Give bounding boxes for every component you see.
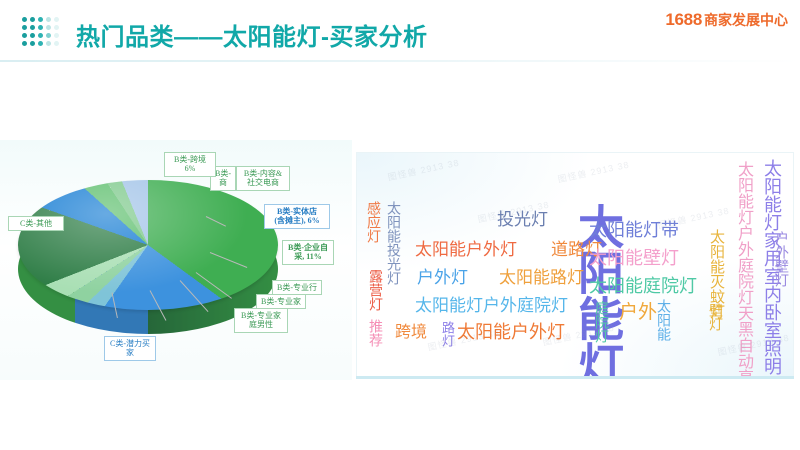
word-cloud-term: 投光灯	[497, 211, 548, 228]
pie-chart-panel: C类-其他 C类-潜力买 家 B类-专业家 庭男性 B类-专业家 B类-专业行 …	[0, 140, 352, 380]
word-cloud-term: 太阳能灯户外庭院灯天黑自动亮	[735, 161, 751, 378]
word-cloud-term: 户外壁灯	[775, 231, 789, 287]
word-cloud-term: 露营灯	[369, 269, 383, 311]
pie-label-b-content: B类-内容& 社交电商	[236, 166, 290, 191]
pie-label-b-store: B类-实体店 (含摊主), 6%	[264, 204, 330, 229]
word-cloud-bottom-edge	[356, 376, 794, 379]
watermark: 图怪兽 2913 38	[556, 158, 630, 186]
word-cloud-term: 感应灯	[367, 201, 381, 243]
pie-label-c-other: C类-其他	[8, 216, 64, 231]
pie-label-b-crossborder: B类-跨境 6%	[164, 152, 216, 177]
word-cloud-term: 太阳能投光灯	[387, 201, 401, 285]
word-cloud-term: 太阳能灯户外庭院灯	[415, 297, 568, 314]
header-divider	[0, 60, 800, 62]
word-cloud-term: 户外灯	[417, 269, 468, 286]
pie-label-c-potential: C类-潜力买 家	[104, 336, 156, 361]
pie-label-b-enterprise: B类-企业自 采, 11%	[282, 240, 334, 265]
watermark: 图怪兽 2913 38	[386, 156, 460, 184]
word-cloud-term: 太阳能户外灯	[415, 241, 517, 258]
brand-text: 商家发展中心	[704, 12, 788, 28]
pie-label-b-pro-trade: B类-专业行	[272, 280, 322, 295]
word-cloud-term: 户外	[619, 303, 657, 322]
pie-label-b-pro-male: B类-专业家 庭男性	[234, 308, 288, 333]
word-cloud-term: 壁灯	[709, 303, 723, 331]
word-cloud-term: 太阳能壁灯	[589, 249, 679, 267]
slide-root: 热门品类——太阳能灯-买家分析 1688商家发展中心 C类-其他 C类-潜力买 …	[0, 0, 800, 450]
header: 热门品类——太阳能灯-买家分析 1688商家发展中心	[0, 0, 800, 62]
word-cloud-term: 太阳能庭院灯	[589, 277, 697, 295]
dot-grid-icon	[22, 17, 61, 48]
word-cloud-term: 太阳能户外灯	[457, 323, 565, 341]
brand-number: 1688	[665, 10, 702, 29]
word-cloud-panel: 太阳能灯太阳能灯户外庭院灯天黑自动亮太阳能灯家用室内卧室照明太阳能灭蚊灯壁灯户外…	[356, 152, 794, 378]
word-cloud-term: 推荐	[369, 319, 383, 347]
page-title: 热门品类——太阳能灯-买家分析	[76, 17, 428, 52]
pie-slice	[18, 180, 278, 310]
pie-top-face	[18, 180, 278, 310]
word-cloud-term: 跨境	[395, 325, 427, 341]
word-cloud-term: 庭院灯	[595, 301, 609, 343]
word-cloud-term: 太阳能路灯	[499, 269, 584, 286]
word-cloud-term: 太阳能灯带	[589, 221, 679, 239]
pie-label-b-pro-family: B类-专业家	[256, 294, 306, 309]
word-cloud-term: 路灯	[441, 321, 454, 347]
word-cloud-term: 太阳能	[657, 299, 671, 341]
brand-logo: 1688商家发展中心	[665, 10, 788, 30]
